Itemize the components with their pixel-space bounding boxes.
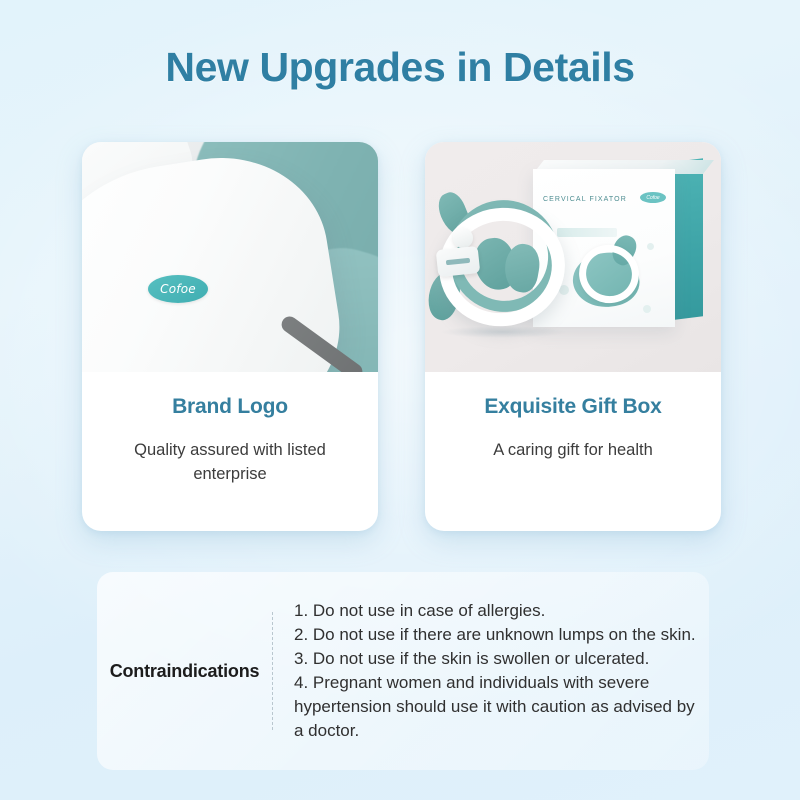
contraindication-item: 2. Do not use if there are unknown lumps…: [294, 623, 703, 647]
contraindication-item: 3. Do not use if the skin is swollen or …: [294, 647, 703, 671]
gift-box-card-body: Exquisite Gift Box A caring gift for hea…: [425, 372, 721, 463]
contraindications-panel: Contraindications 1. Do not use in case …: [97, 572, 709, 770]
contraindication-item: 4. Pregnant women and individuals with s…: [294, 671, 703, 743]
gift-box-photo: CERVICAL FIXATOR Cofoe: [425, 142, 721, 372]
brand-logo-card-body: Brand Logo Quality assured with listed e…: [82, 372, 378, 487]
feature-cards: Cofoe Brand Logo Quality assured with li…: [82, 142, 722, 532]
gift-box-card-subtitle: A caring gift for health: [447, 439, 699, 463]
feature-card-brand-logo[interactable]: Cofoe Brand Logo Quality assured with li…: [82, 142, 378, 531]
cervical-fixator-product: [431, 194, 581, 339]
gift-box-side-panel: [675, 158, 703, 319]
cofoe-brand-badge-label: Cofoe: [160, 282, 196, 296]
contraindications-label: Contraindications: [97, 661, 272, 682]
contraindication-item: 1. Do not use in case of allergies.: [294, 599, 703, 623]
cofoe-brand-badge: Cofoe: [148, 275, 208, 303]
page-title: New Upgrades in Details: [0, 44, 800, 91]
gift-box-cofoe-badge: Cofoe: [640, 192, 666, 203]
brand-logo-card-subtitle: Quality assured with listed enterprise: [104, 439, 356, 487]
gift-box-cofoe-badge-label: Cofoe: [646, 195, 659, 201]
brand-logo-card-title: Brand Logo: [104, 395, 356, 419]
contraindications-list: 1. Do not use in case of allergies. 2. D…: [273, 599, 709, 744]
brand-logo-photo: Cofoe: [82, 142, 378, 372]
gift-box-card-title: Exquisite Gift Box: [447, 395, 699, 419]
feature-card-gift-box[interactable]: CERVICAL FIXATOR Cofoe: [425, 142, 721, 531]
